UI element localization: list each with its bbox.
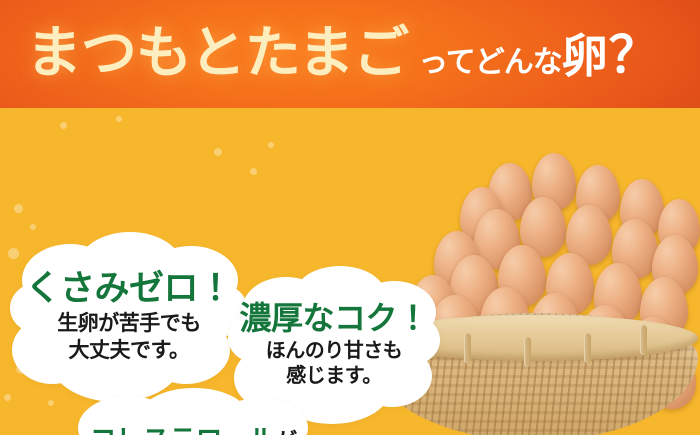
banner-header: まつもとたまご ってどんな 卵 ？ — [0, 0, 700, 108]
banner-body: くさみゼロ！ 生卵が苦手でも 大丈夫です。 — [0, 108, 700, 435]
bubble-cholesterol: コレステロールが たったの336mg！ — [62, 388, 324, 435]
bubble-koku-headline: 濃厚なコク！ — [239, 302, 428, 335]
header-title: まつもとたまご ってどんな 卵 ？ — [26, 25, 659, 81]
bubble-koku-line-1: ほんのり甘さも — [266, 339, 403, 365]
title-sub-text: ってどんな — [418, 48, 562, 78]
bubble-cholesterol-particle: が — [275, 429, 297, 435]
bubble-kusami-line-1: 生卵が苦手でも — [57, 311, 201, 338]
promo-banner: まつもとたまご ってどんな 卵 ？ — [0, 0, 700, 435]
title-kanji-text: 卵 — [562, 33, 607, 79]
bubble-koku-line-2: 感じます。 — [286, 364, 382, 390]
bubble-kusami-zero: くさみゼロ！ 生卵が苦手でも 大丈夫です。 — [8, 232, 250, 404]
bubble-cholesterol-headline: コレステロールが — [89, 426, 296, 435]
title-question-mark: ？ — [609, 30, 659, 80]
bubble-kusami-line-2: 大丈夫です。 — [69, 338, 190, 365]
bubble-kusami-headline: くさみゼロ！ — [25, 271, 232, 307]
title-main-text: まつもとたまご — [26, 25, 408, 81]
